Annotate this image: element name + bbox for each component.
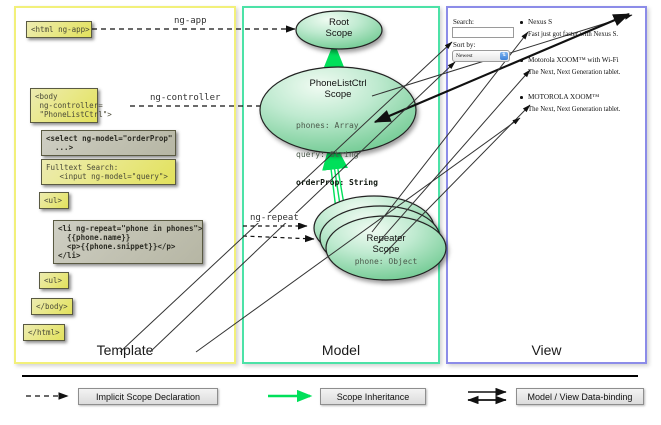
panel-model-title: Model [244,342,438,358]
bullet-icon [520,96,523,99]
panel-model: Model [242,6,440,364]
legend-model-view-data-binding: Model / View Data-binding [516,388,644,405]
li-ng-repeat-box: <li ng-repeat="phone in phones"> {{phone… [53,220,203,264]
phone-name: MOTOROLA XOOM™ [528,93,599,101]
sort-by-select[interactable]: Newest ⇅ [452,50,510,62]
sort-by-label: Sort by: [453,41,475,49]
panel-template-title: Template [16,342,234,358]
panel-view-title: View [448,342,645,358]
bullet-icon [520,21,523,24]
body-close-box: </body> [31,298,73,315]
phone-name: Motorola XOOM™ with Wi-Fi [528,56,619,64]
search-label: Search: [453,18,474,26]
legend-implicit-scope-declaration: Implicit Scope Declaration [78,388,218,405]
chevron-updown-icon: ⇅ [500,52,508,60]
fulltext-search-box: Fulltext Search: <input ng-model="query"… [41,159,176,185]
edge-label-ng-controller: ng-controller [148,93,222,103]
sort-by-selected-value: Newest [456,53,473,59]
html-close-box: </html> [23,324,65,341]
edge-label-ng-repeat: ng-repeat [248,213,301,223]
ul-open-box: <ul> [39,192,69,209]
phone-snippet: The Next, Next Generation tablet. [528,106,620,113]
legend-scope-inheritance: Scope Inheritance [320,388,426,405]
diagram-canvas: Template Model View [0,0,661,425]
phone-snippet: The Next, Next Generation tablet. [528,69,620,76]
html-tag-box: <html ng-app> [26,21,92,38]
phone-name: Nexus S [528,18,552,26]
select-orderprop-box: <select ng-model="orderProp" ...> [41,130,176,156]
phone-snippet: Fast just got faster with Nexus S. [528,31,618,38]
search-input[interactable] [452,27,514,38]
edge-label-ng-app: ng-app [172,16,209,26]
body-controller-box: <body ng-controller= "PhoneListCtrl"> [30,88,98,123]
ul-close-box: <ul> [39,272,69,289]
legend-arrow-double [468,392,506,400]
bullet-icon [520,59,523,62]
legend-divider [22,375,638,377]
